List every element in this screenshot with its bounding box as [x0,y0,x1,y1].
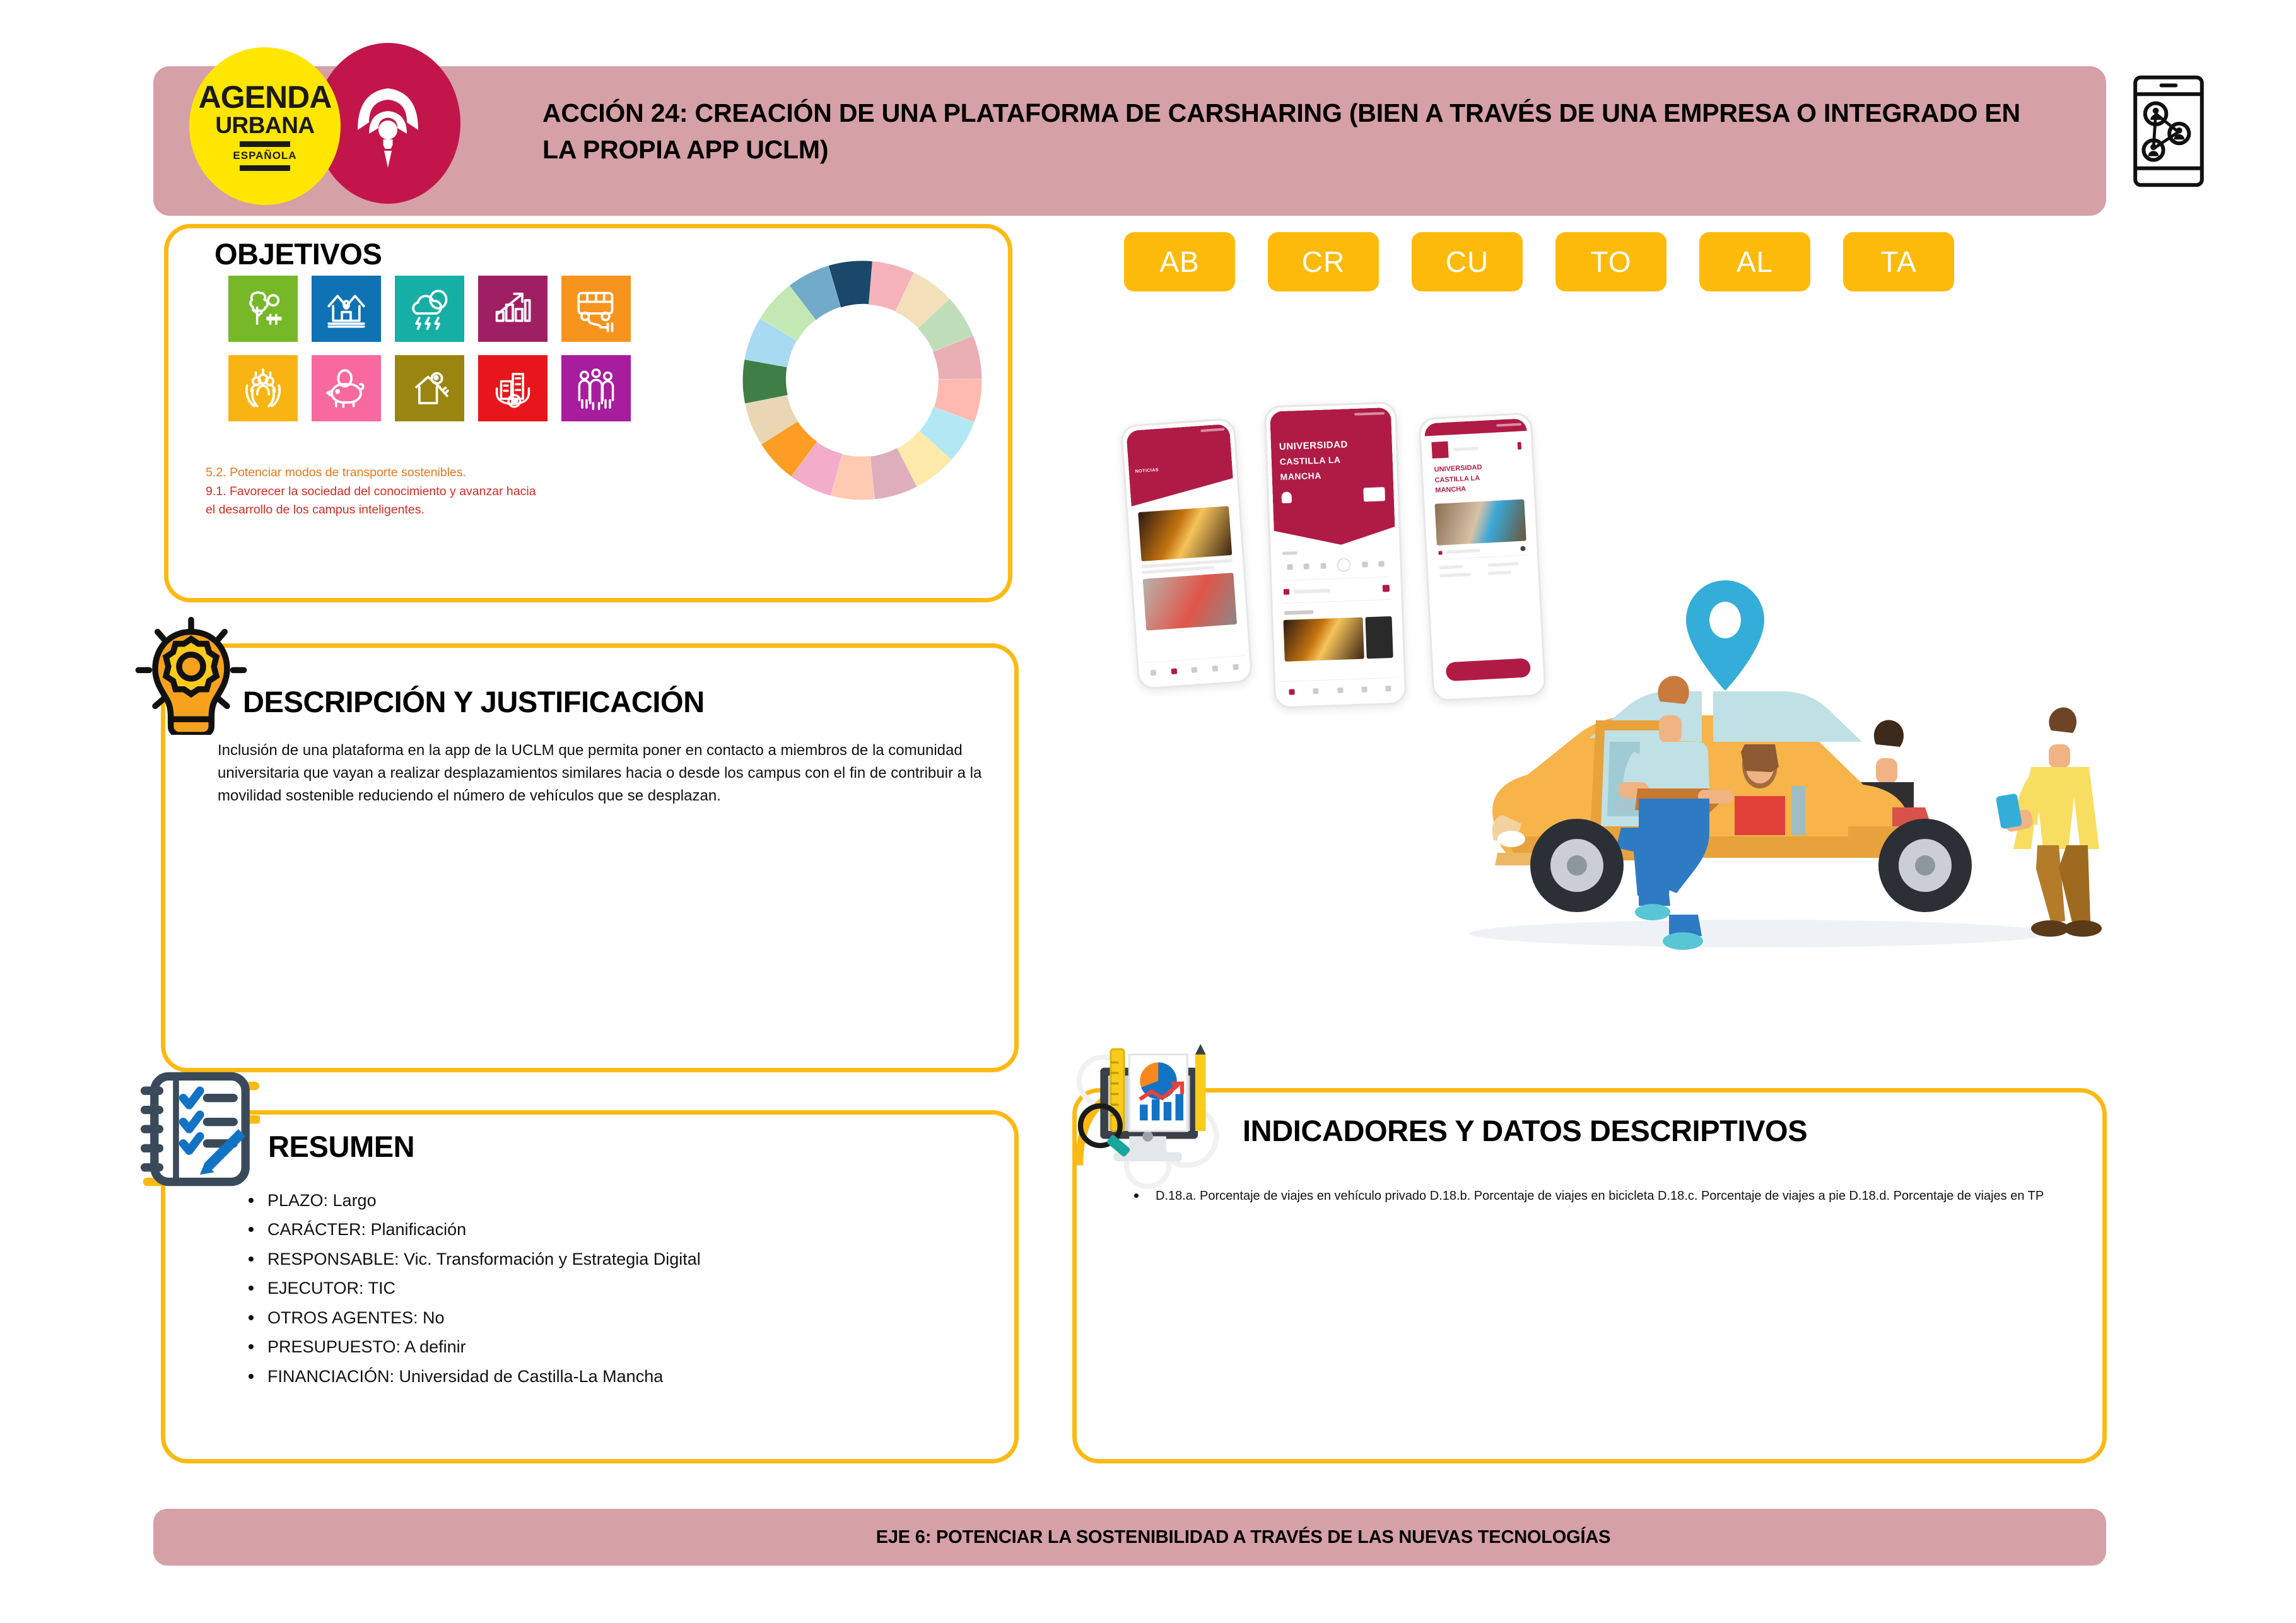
descripcion-body: Inclusión de una plataforma en la app de… [218,739,1006,807]
electric-bus-icon [561,276,631,342]
piggy-bank-icon [312,355,381,421]
poster-page: AGENDA URBANA ESPAÑOLA ACCIÓN 24: CREACI… [0,0,2296,1623]
objetivo-line-1: 5.2. Potenciar modos de transporte soste… [206,464,672,483]
carsharing-illustration [1407,555,2138,959]
phone-mockup-left: NOTICIAS [1120,418,1253,690]
logo-rule-top [240,141,290,147]
logo-line-agenda: AGENDA [199,81,332,113]
analytics-monitor-icon [1072,1044,1221,1189]
objetivos-icon-grid [228,276,631,421]
campus-tag-al[interactable]: AL [1699,232,1810,291]
campus-tag-to[interactable]: TO [1555,232,1666,291]
house-keys-icon [395,355,464,421]
phone-title-line3: MANCHA [1280,471,1321,482]
logo-rule-bottom [240,165,290,171]
storm-cloud-icon [395,276,464,342]
descripcion-heading: DESCRIPCIÓN Y JUSTIFICACIÓN [243,684,705,719]
group-people-icon [561,355,631,421]
agenda-urbana-logo: AGENDA URBANA ESPAÑOLA [189,47,341,205]
page-title: ACCIÓN 24: CREACIÓN DE UNA PLATAFORMA DE… [542,95,2044,168]
campus-tag-ab[interactable]: AB [1124,232,1235,291]
lightbulb-gear-icon [131,615,251,735]
list-item: PRESUPUESTO: A definir [240,1332,984,1361]
list-item: FINANCIACIÓN: Universidad de Castilla-La… [240,1362,984,1391]
campus-tag-ta[interactable]: TA [1843,232,1954,291]
phone-title-line2: CASTILLA LA [1280,455,1341,467]
list-item: D.18.a. Porcentaje de viajes en vehículo… [1123,1186,2056,1207]
resumen-list: PLAZO: Largo CARÁCTER: Planificación RES… [240,1186,984,1391]
objetivo-line-3: el desarrollo de los campus inteligentes… [206,501,672,520]
indicadores-list: D.18.a. Porcentaje de viajes en vehículo… [1123,1186,2056,1207]
sdg-wheel [727,245,998,516]
campus-tag-cu[interactable]: CU [1412,232,1523,291]
broadcast-icon [341,71,435,175]
list-item: RESPONSABLE: Vic. Transformación y Estra… [240,1245,984,1274]
logo-line-espanola: ESPAÑOLA [233,149,296,162]
phone-title-line1: UNIVERSIDAD [1279,439,1348,452]
logo-line-urbana: URBANA [215,113,314,139]
campus-tag-cr[interactable]: CR [1268,232,1379,291]
footer-text: EJE 6: POTENCIAR LA SOSTENIBILIDAD A TRA… [153,1509,2106,1566]
list-item: PLAZO: Largo [240,1186,984,1215]
indicadores-heading: INDICADORES Y DATOS DESCRIPTIVOS [1243,1113,1807,1148]
city-buildings-icon [478,355,548,421]
objetivo-line-2: 9.1. Favorecer la sociedad del conocimie… [206,483,672,501]
growth-bar-chart-icon [478,276,548,342]
tree-park-icon [228,276,298,342]
list-item: CARÁCTER: Planificación [240,1215,984,1244]
house-roof-icon [312,276,381,342]
resumen-heading: RESUMEN [268,1129,414,1164]
list-item: OTROS AGENTES: No [240,1303,984,1332]
objetivos-heading: OBJETIVOS [214,237,382,271]
checklist-notepad-icon [140,1069,260,1189]
list-item: EJECUTOR: TIC [240,1274,984,1303]
hands-people-icon [228,355,298,421]
phone-mockup-center: UNIVERSIDAD CASTILLA LA MANCHA [1264,401,1407,708]
phone-network-icon [2131,74,2206,188]
objetivos-lines: 5.2. Potenciar modos de transporte soste… [206,464,672,520]
campus-tag-row: AB CR CU TO AL TA [1124,232,1954,291]
